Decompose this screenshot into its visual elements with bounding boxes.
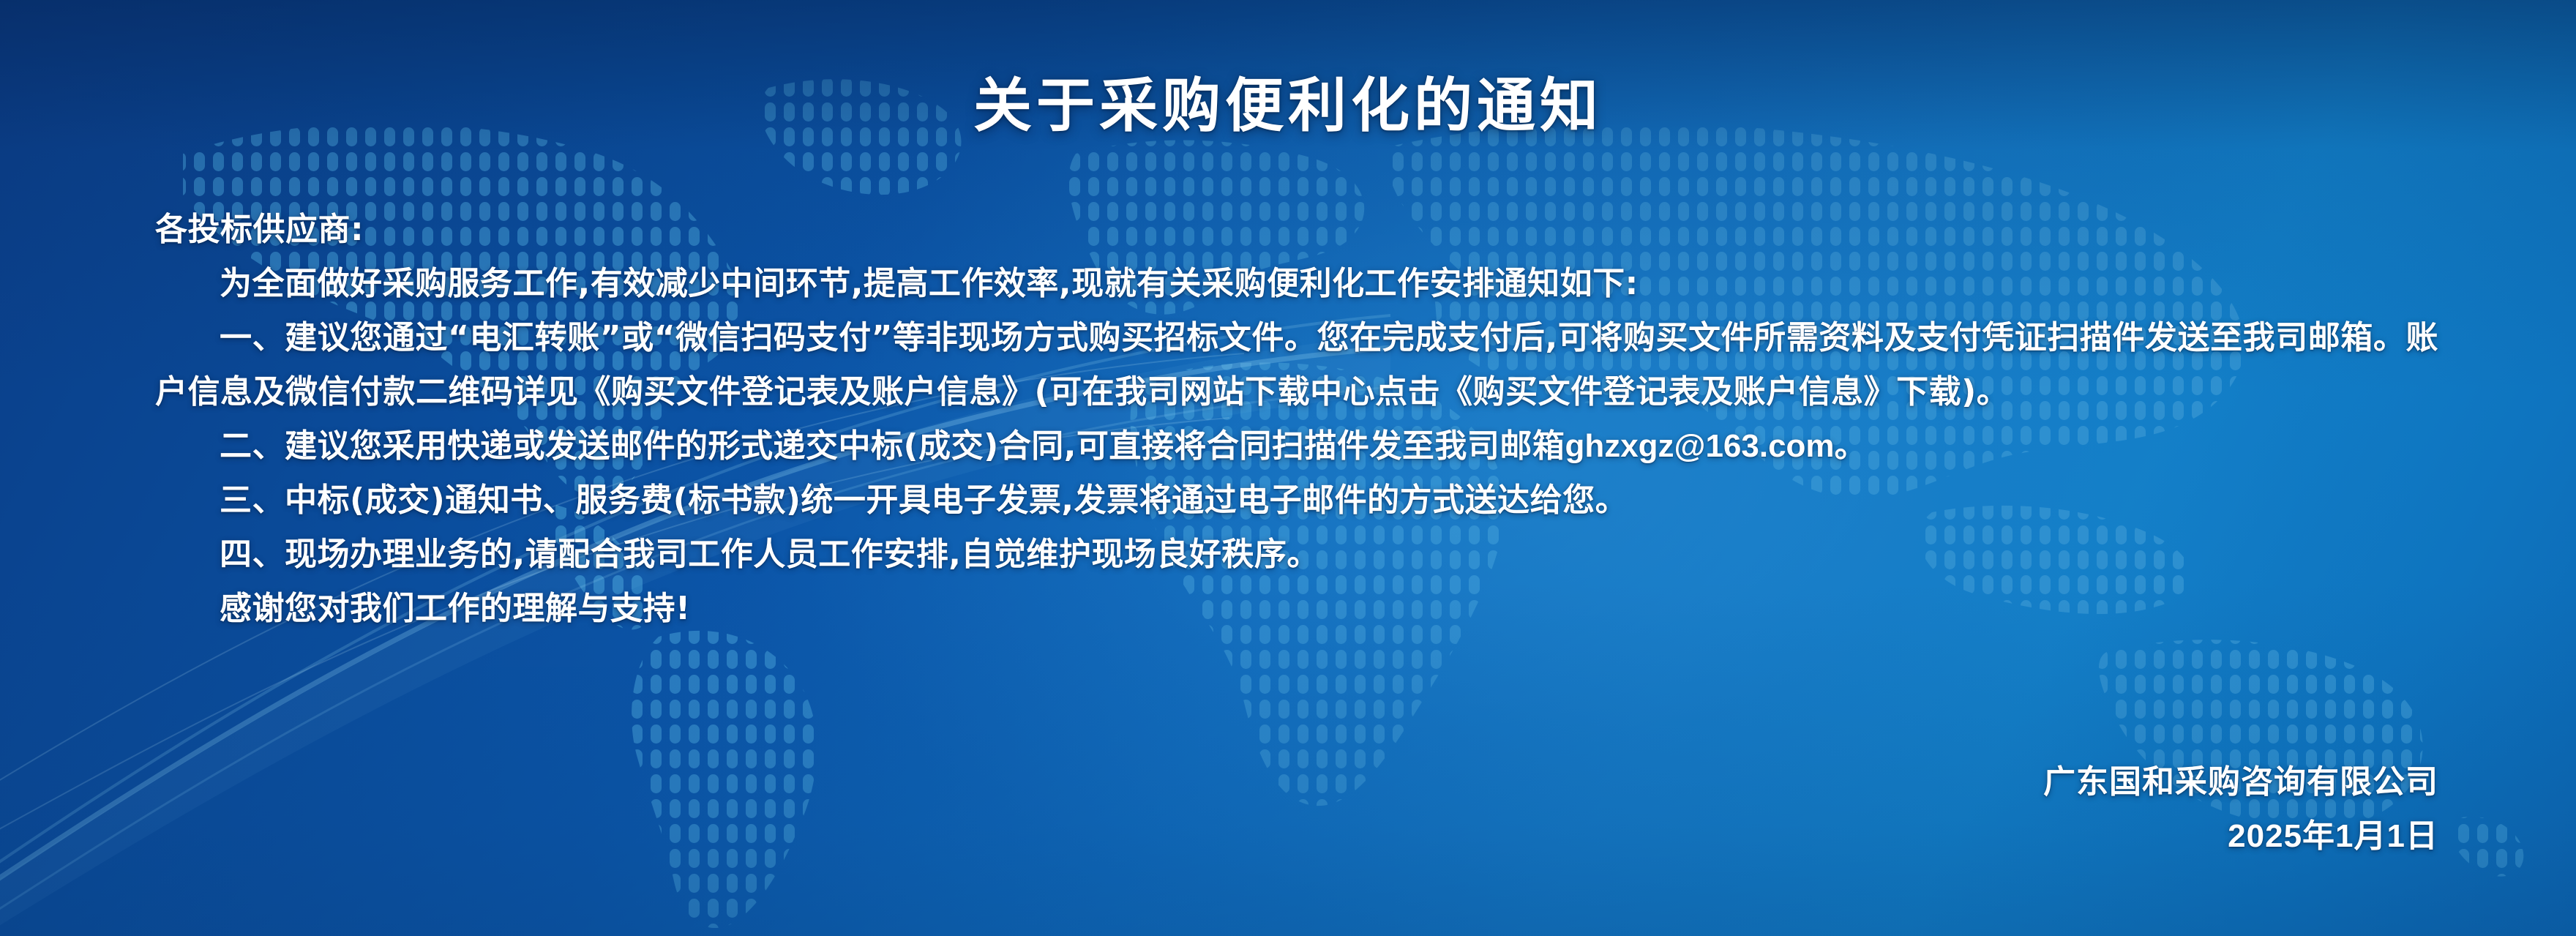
notice-item-2: 二、建议您采用快递或发送邮件的形式递交中标(成交)合同,可直接将合同扫描件发至我… [155,419,2438,473]
page-title: 关于采购便利化的通知 [0,59,2576,143]
intro-paragraph: 为全面做好采购服务工作,有效减少中间环节,提高工作效率,现就有关采购便利化工作安… [155,257,2438,311]
signature-block: 广东国和采购咨询有限公司 2025年1月1日 [2043,755,2438,864]
contact-email[interactable]: ghzxgz@163.com [1565,428,1834,464]
notice-item-2-tail: 。 [1835,427,1868,465]
notice-item-2-text: 二、建议您采用快递或发送邮件的形式递交中标(成交)合同,可直接将合同扫描件发至我… [220,427,1565,465]
notice-item-1: 一、建议您通过“电汇转账”或“微信扫码支付”等非现场方式购买招标文件。您在完成支… [155,311,2438,419]
notice-body: 各投标供应商: 为全面做好采购服务工作,有效减少中间环节,提高工作效率,现就有关… [155,203,2438,636]
signature-date: 2025年1月1日 [2043,809,2438,864]
signature-company: 广东国和采购咨询有限公司 [2043,755,2438,809]
notice-item-4: 四、现场办理业务的,请配合我司工作人员工作安排,自觉维护现场良好秩序。 [155,528,2438,582]
salutation: 各投标供应商: [155,203,2438,257]
notice-item-3: 三、中标(成交)通知书、服务费(标书款)统一开具电子发票,发票将通过电子邮件的方… [155,473,2438,528]
closing-line: 感谢您对我们工作的理解与支持! [155,582,2438,636]
notice-banner: 关于采购便利化的通知 各投标供应商: 为全面做好采购服务工作,有效减少中间环节,… [0,0,2576,936]
